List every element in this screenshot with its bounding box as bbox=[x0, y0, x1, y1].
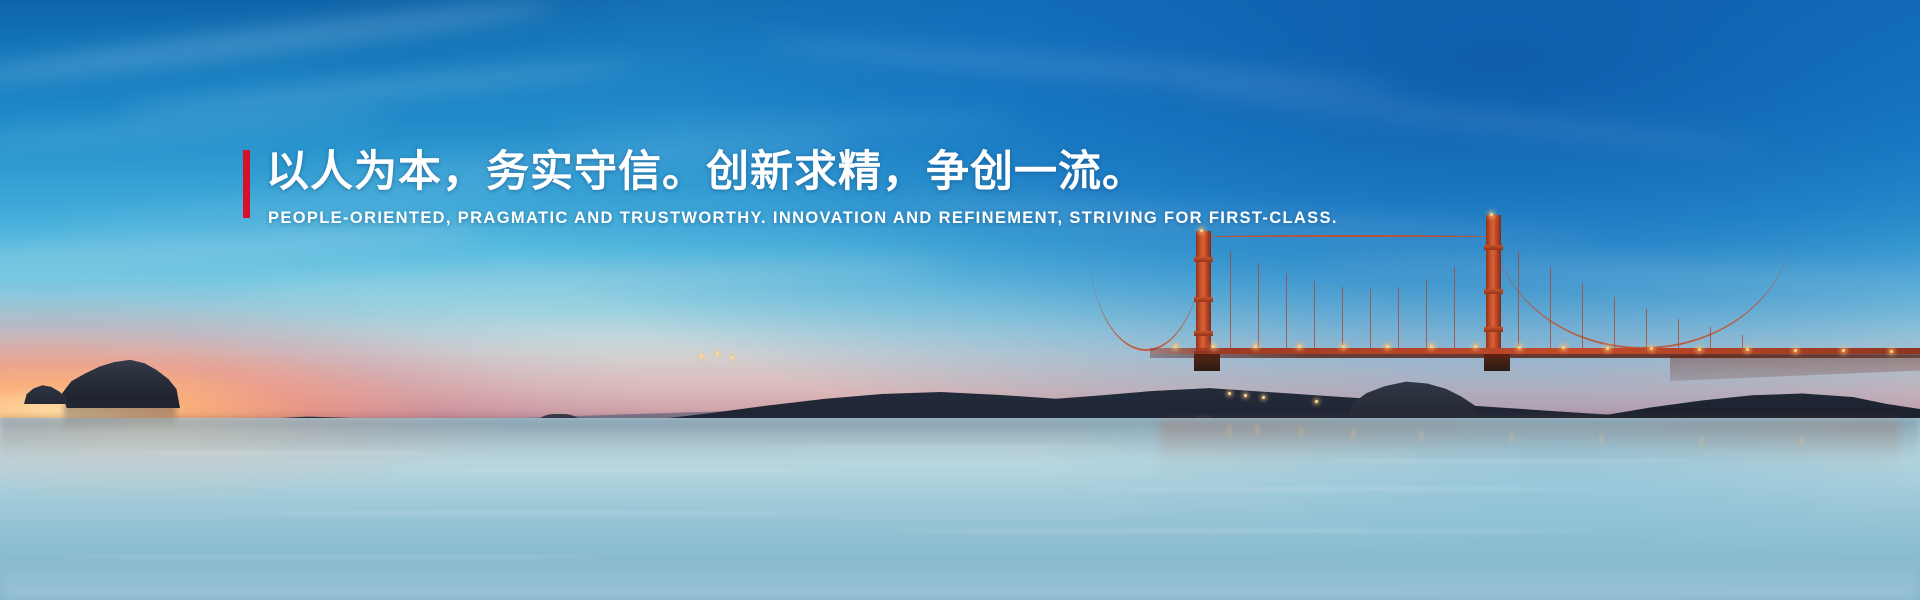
hill-light bbox=[731, 356, 734, 359]
bridge-tower-right bbox=[1486, 215, 1501, 357]
banner-text-block: 以人为本，务实守信。创新求精，争创一流。 PEOPLE-ORIENTED, PR… bbox=[243, 146, 1403, 229]
bridge-deck-shadow bbox=[1150, 354, 1920, 358]
light-reflection bbox=[1420, 430, 1423, 446]
shore-foam bbox=[0, 560, 1920, 600]
bridge-light bbox=[1212, 345, 1215, 348]
suspension-cable-right bbox=[1493, 221, 1793, 349]
water-streak bbox=[420, 470, 840, 472]
tower-crossbeam bbox=[1484, 289, 1503, 294]
tower-crossbeam bbox=[1194, 331, 1213, 336]
golden-gate-bridge bbox=[1150, 205, 1920, 420]
bridge-hanger bbox=[1742, 335, 1743, 348]
bridge-hanger bbox=[1518, 251, 1519, 348]
tower-crossbeam bbox=[1194, 297, 1213, 302]
bridge-light bbox=[1562, 346, 1565, 349]
light-reflection bbox=[1800, 436, 1803, 452]
tower-crossbeam bbox=[1194, 257, 1213, 262]
light-reflection bbox=[1600, 434, 1603, 450]
hill-light bbox=[716, 352, 719, 355]
bridge-light bbox=[1650, 347, 1653, 350]
hill-light bbox=[700, 355, 703, 358]
bridge-light bbox=[1430, 345, 1433, 348]
water-streak bbox=[220, 512, 840, 514]
tower-top-light bbox=[1490, 213, 1493, 216]
bridge-hanger bbox=[1342, 287, 1343, 348]
water-streak bbox=[900, 530, 1600, 532]
light-reflection bbox=[1300, 426, 1303, 442]
light-reflection bbox=[1510, 432, 1513, 448]
bridge-hanger bbox=[1370, 289, 1371, 348]
water-warm-reflection bbox=[0, 418, 760, 538]
water-streak bbox=[760, 446, 1120, 448]
bridge-hanger bbox=[1710, 327, 1711, 348]
bridge-light bbox=[1386, 345, 1389, 348]
bridge-hanger bbox=[1678, 319, 1679, 348]
water-streak bbox=[60, 556, 600, 558]
light-reflection bbox=[1352, 428, 1355, 444]
water-streak bbox=[1080, 488, 1600, 490]
bridge-light bbox=[1342, 345, 1345, 348]
suspension-cable bbox=[1203, 235, 1493, 237]
tower-crossbeam bbox=[1484, 245, 1503, 250]
red-accent-bar bbox=[243, 150, 250, 218]
bridge-light bbox=[1606, 347, 1609, 350]
bridge-light bbox=[1746, 348, 1749, 351]
bridge-light bbox=[1474, 345, 1477, 348]
light-reflection bbox=[1228, 424, 1231, 440]
bridge-light bbox=[1698, 348, 1701, 351]
bridge-hanger bbox=[1398, 287, 1399, 348]
bridge-light bbox=[1298, 345, 1301, 348]
bridge-approach-truss bbox=[1670, 355, 1920, 381]
bridge-light bbox=[1890, 350, 1893, 353]
light-reflection bbox=[1700, 436, 1703, 452]
water-streak bbox=[1320, 460, 1700, 462]
bridge-hanger bbox=[1582, 283, 1583, 348]
bridge-light bbox=[1794, 349, 1797, 352]
bridge-light bbox=[1174, 345, 1177, 348]
bridge-light bbox=[1842, 349, 1845, 352]
bridge-tower-left bbox=[1196, 231, 1211, 357]
bridge-hanger bbox=[1258, 263, 1259, 348]
light-reflection bbox=[1256, 424, 1259, 440]
hero-banner: 以人为本，务实守信。创新求精，争创一流。 PEOPLE-ORIENTED, PR… bbox=[0, 0, 1920, 600]
tower-top-light bbox=[1200, 229, 1203, 232]
bridge-hanger bbox=[1454, 267, 1455, 348]
tower-crossbeam bbox=[1484, 327, 1503, 332]
banner-subtitle: PEOPLE-ORIENTED, PRAGMATIC AND TRUSTWORT… bbox=[268, 207, 1403, 229]
bridge-hanger bbox=[1646, 309, 1647, 348]
banner-headline: 以人为本，务实守信。创新求精，争创一流。 bbox=[266, 146, 1403, 198]
bridge-light bbox=[1518, 346, 1521, 349]
bridge-hanger bbox=[1230, 251, 1231, 348]
bridge-hanger bbox=[1286, 273, 1287, 348]
bridge-light bbox=[1254, 345, 1257, 348]
bridge-hanger bbox=[1314, 281, 1315, 348]
bridge-hanger bbox=[1550, 267, 1551, 348]
bridge-hanger bbox=[1614, 297, 1615, 348]
bridge-hanger bbox=[1426, 279, 1427, 348]
water-streak bbox=[120, 452, 440, 454]
